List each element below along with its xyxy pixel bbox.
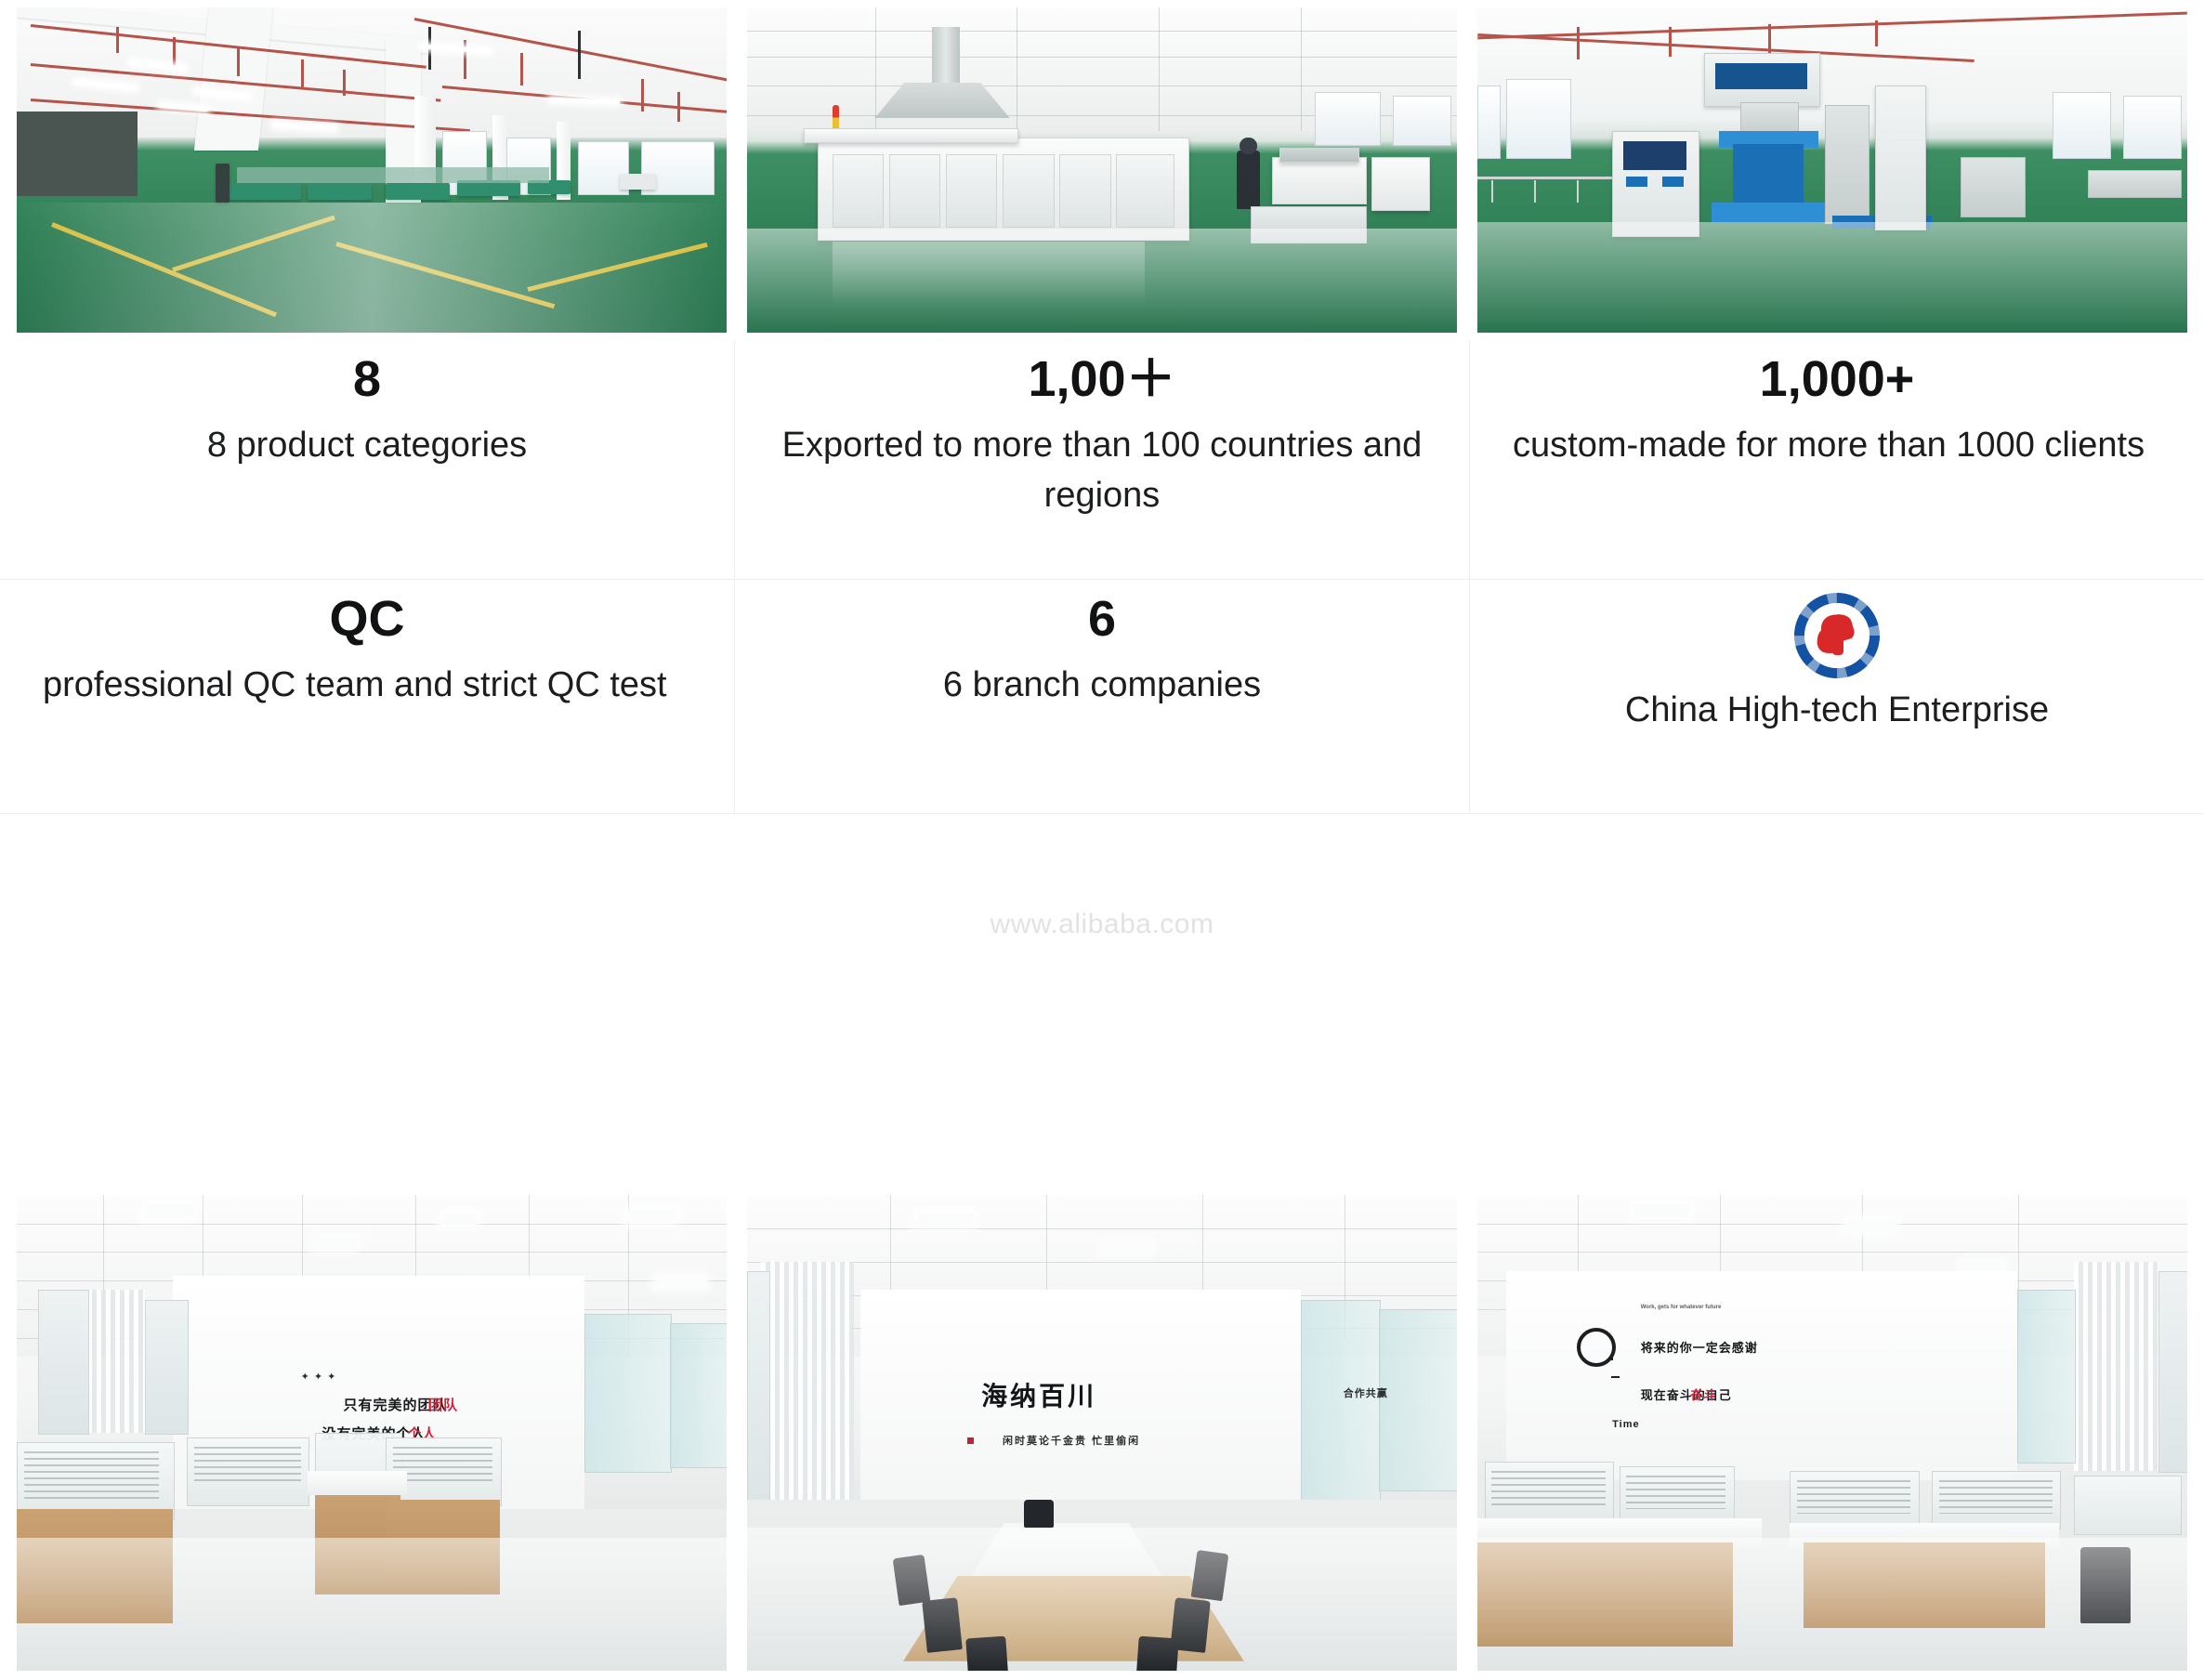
stat-number: 6 (1088, 593, 1116, 646)
stopwatch-icon (1577, 1328, 1616, 1367)
stat-description: custom-made for more than 1000 clients (1513, 421, 2145, 471)
top-photo-row (0, 7, 2204, 333)
stats-row-1: 8 8 product categories 1,00＋ Exported to… (0, 340, 2204, 580)
logo-wrap: China High-tech Enterprise (1625, 593, 2049, 736)
stat-cell-high-tech-enterprise: China High-tech Enterprise (1469, 580, 2204, 813)
stats-row-2: QC professional QC team and strict QC te… (0, 580, 2204, 814)
watermark: www.alibaba.com (990, 909, 1214, 940)
stat-description: China High-tech Enterprise (1625, 686, 2049, 736)
meeting-room-wall-calligraphy: 海纳百川 (981, 1376, 1096, 1413)
office-wall-text-line2: 现在奋斗的自己 (1641, 1385, 1732, 1403)
photo-office-reception-open-area: 只有完美的团队 团队 没有完美的个人 个人 ✦ ✦ ✦ (17, 1195, 727, 1671)
stat-number: QC (330, 593, 405, 646)
stat-description: 8 product categories (207, 421, 527, 471)
bottom-photo-row: 只有完美的团队 团队 没有完美的个人 个人 ✦ ✦ ✦ (0, 1195, 2204, 1671)
photo-factory-workshop-assembly-hall (17, 7, 727, 333)
photo-factory-coating-machine-room (1477, 7, 2187, 333)
stat-description: Exported to more than 100 countries and … (778, 421, 1426, 521)
photo-office-workstations: Work, gets for whatever future 将来的你一定会感谢… (1477, 1195, 2187, 1671)
stat-cell-qc-team: QC professional QC team and strict QC te… (0, 580, 734, 813)
photo-factory-reflow-oven-line (747, 7, 1457, 333)
flame-icon (1816, 612, 1858, 659)
stat-cell-custom-clients: 1,000+ custom-made for more than 1000 cl… (1469, 340, 2204, 579)
stat-cell-export-countries: 1,00＋ Exported to more than 100 countrie… (734, 340, 1469, 579)
stat-cell-product-categories: 8 8 product categories (0, 340, 734, 579)
stat-cell-branch-companies: 6 6 branch companies (734, 580, 1469, 813)
stat-number: 8 (353, 353, 381, 406)
stats-grid: 8 8 product categories 1,00＋ Exported to… (0, 340, 2204, 1189)
photo-meeting-room: 海纳百川 闲时莫论千金贵 忙里偷闲 合作共赢 (747, 1195, 1457, 1671)
stat-description: professional QC team and strict QC test (43, 661, 667, 711)
office-wall-text-mark: Time (1612, 1419, 1639, 1430)
stat-number: 1,00＋ (1028, 353, 1175, 406)
stat-number: 1,000+ (1760, 353, 1915, 406)
office-wall-text-line1: 将来的你一定会感谢 (1641, 1338, 1758, 1356)
stat-description: 6 branch companies (943, 661, 1261, 711)
company-profile-infographic: 8 8 product categories 1,00＋ Exported to… (0, 0, 2204, 1680)
china-high-tech-enterprise-logo-icon (1794, 593, 1880, 678)
